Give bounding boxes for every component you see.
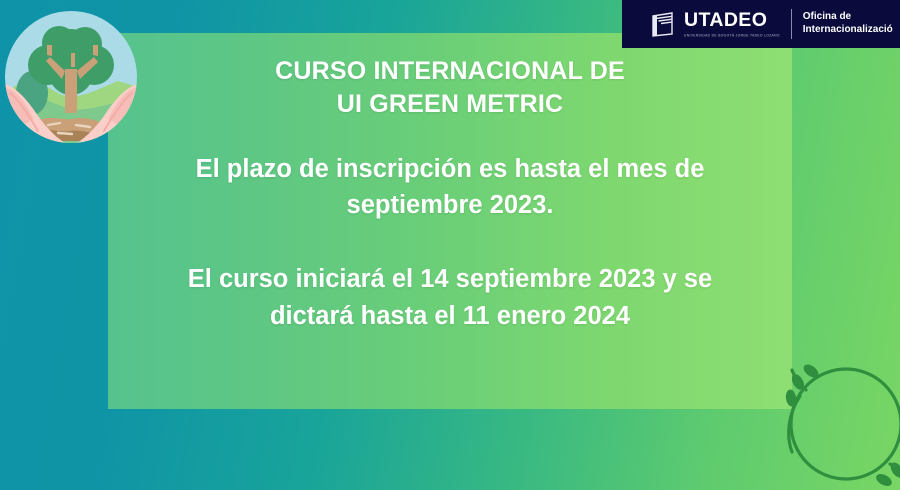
office-line-1: Oficina de (803, 11, 893, 24)
page-title: CURSO INTERNACIONAL DE UI GREEN METRIC (148, 55, 752, 121)
slide-copy: CURSO INTERNACIONAL DE UI GREEN METRIC E… (108, 33, 792, 409)
course-dates-text: El curso iniciará el 14 septiembre 2023 … (148, 261, 752, 333)
office-label: Oficina de Internacionalizació (803, 11, 893, 37)
title-line-2: UI GREEN METRIC (148, 88, 752, 121)
office-line-2: Internacionalizació (803, 24, 893, 37)
promotional-slide: UTADEO UNIVERSIDAD DE BOGOTÁ JORGE TADEO… (0, 0, 900, 490)
university-name: UTADEO (684, 11, 780, 31)
title-line-1: CURSO INTERNACIONAL DE (148, 55, 752, 88)
leafy-vine-circle-icon (778, 352, 900, 490)
enrollment-deadline-text: El plazo de inscripción es hasta el mes … (148, 151, 752, 223)
